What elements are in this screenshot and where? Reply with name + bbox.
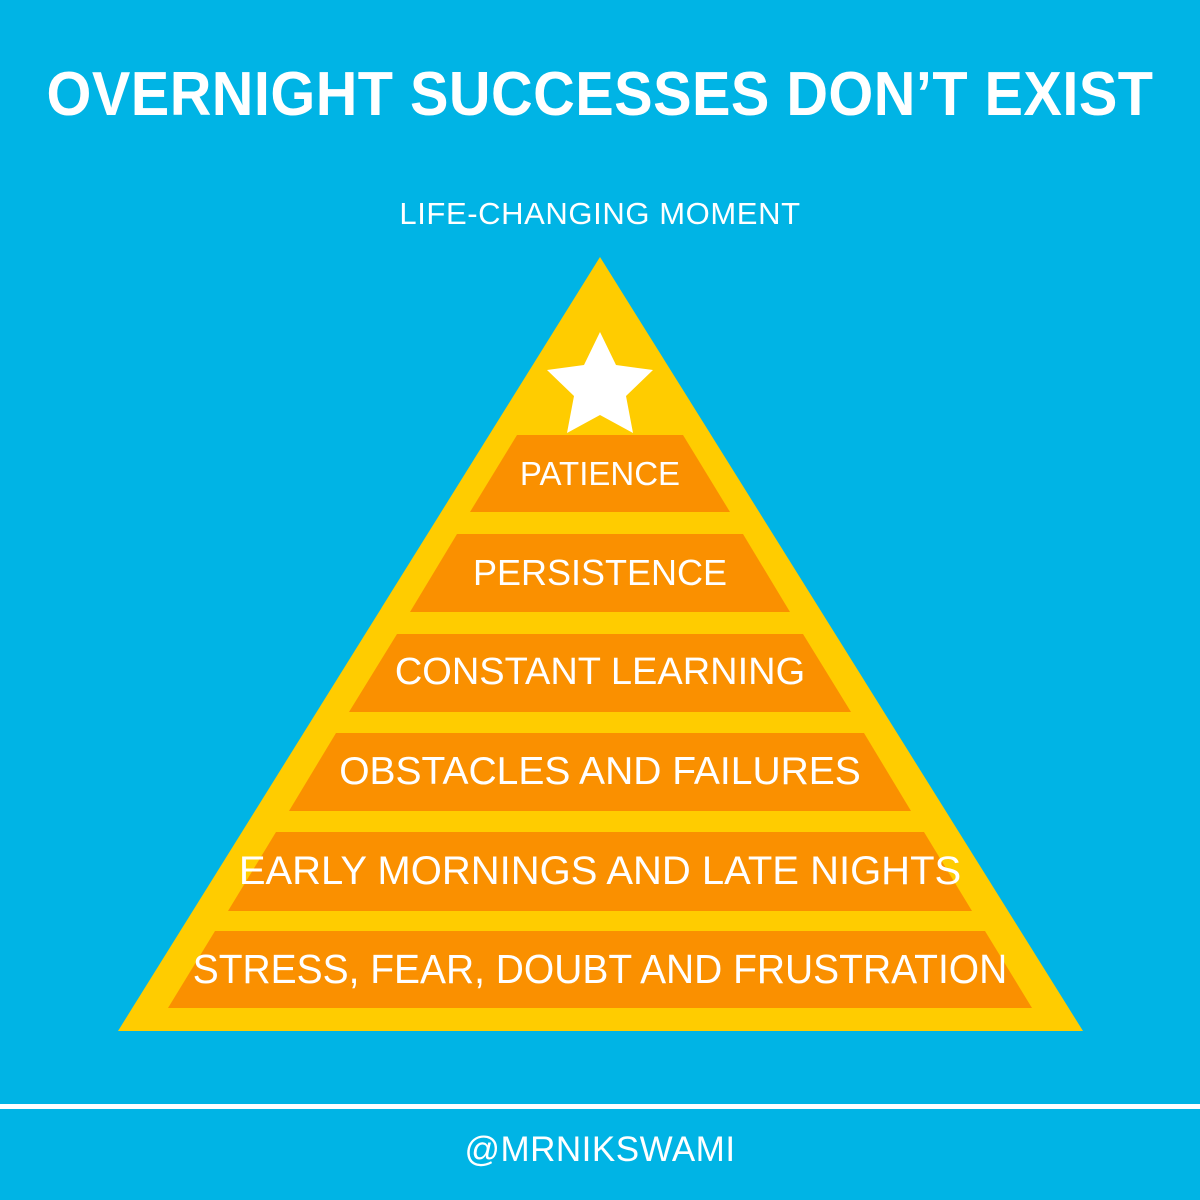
pyramid-band-label-1: PATIENCE	[0, 457, 1200, 490]
poster-canvas: OVERNIGHT SUCCESSES DON’T EXIST LIFE-CHA…	[0, 0, 1200, 1200]
pyramid-band-label-3: CONSTANT LEARNING	[0, 653, 1200, 691]
footer-divider	[0, 1104, 1200, 1109]
footer-handle: @MRNIKSWAMI	[0, 1130, 1200, 1170]
pyramid-band-label-5: EARLY MORNINGS AND LATE NIGHTS	[0, 851, 1200, 891]
pyramid-band-label-2: PERSISTENCE	[0, 555, 1200, 591]
pyramid-band-label-6: STRESS, FEAR, DOUBT AND FRUSTRATION	[30, 949, 1170, 990]
pyramid-svg	[0, 0, 1200, 1200]
pyramid-diagram: PATIENCE PERSISTENCE CONSTANT LEARNING O…	[0, 0, 1200, 1200]
pyramid-band-label-4: OBSTACLES AND FAILURES	[0, 752, 1200, 791]
